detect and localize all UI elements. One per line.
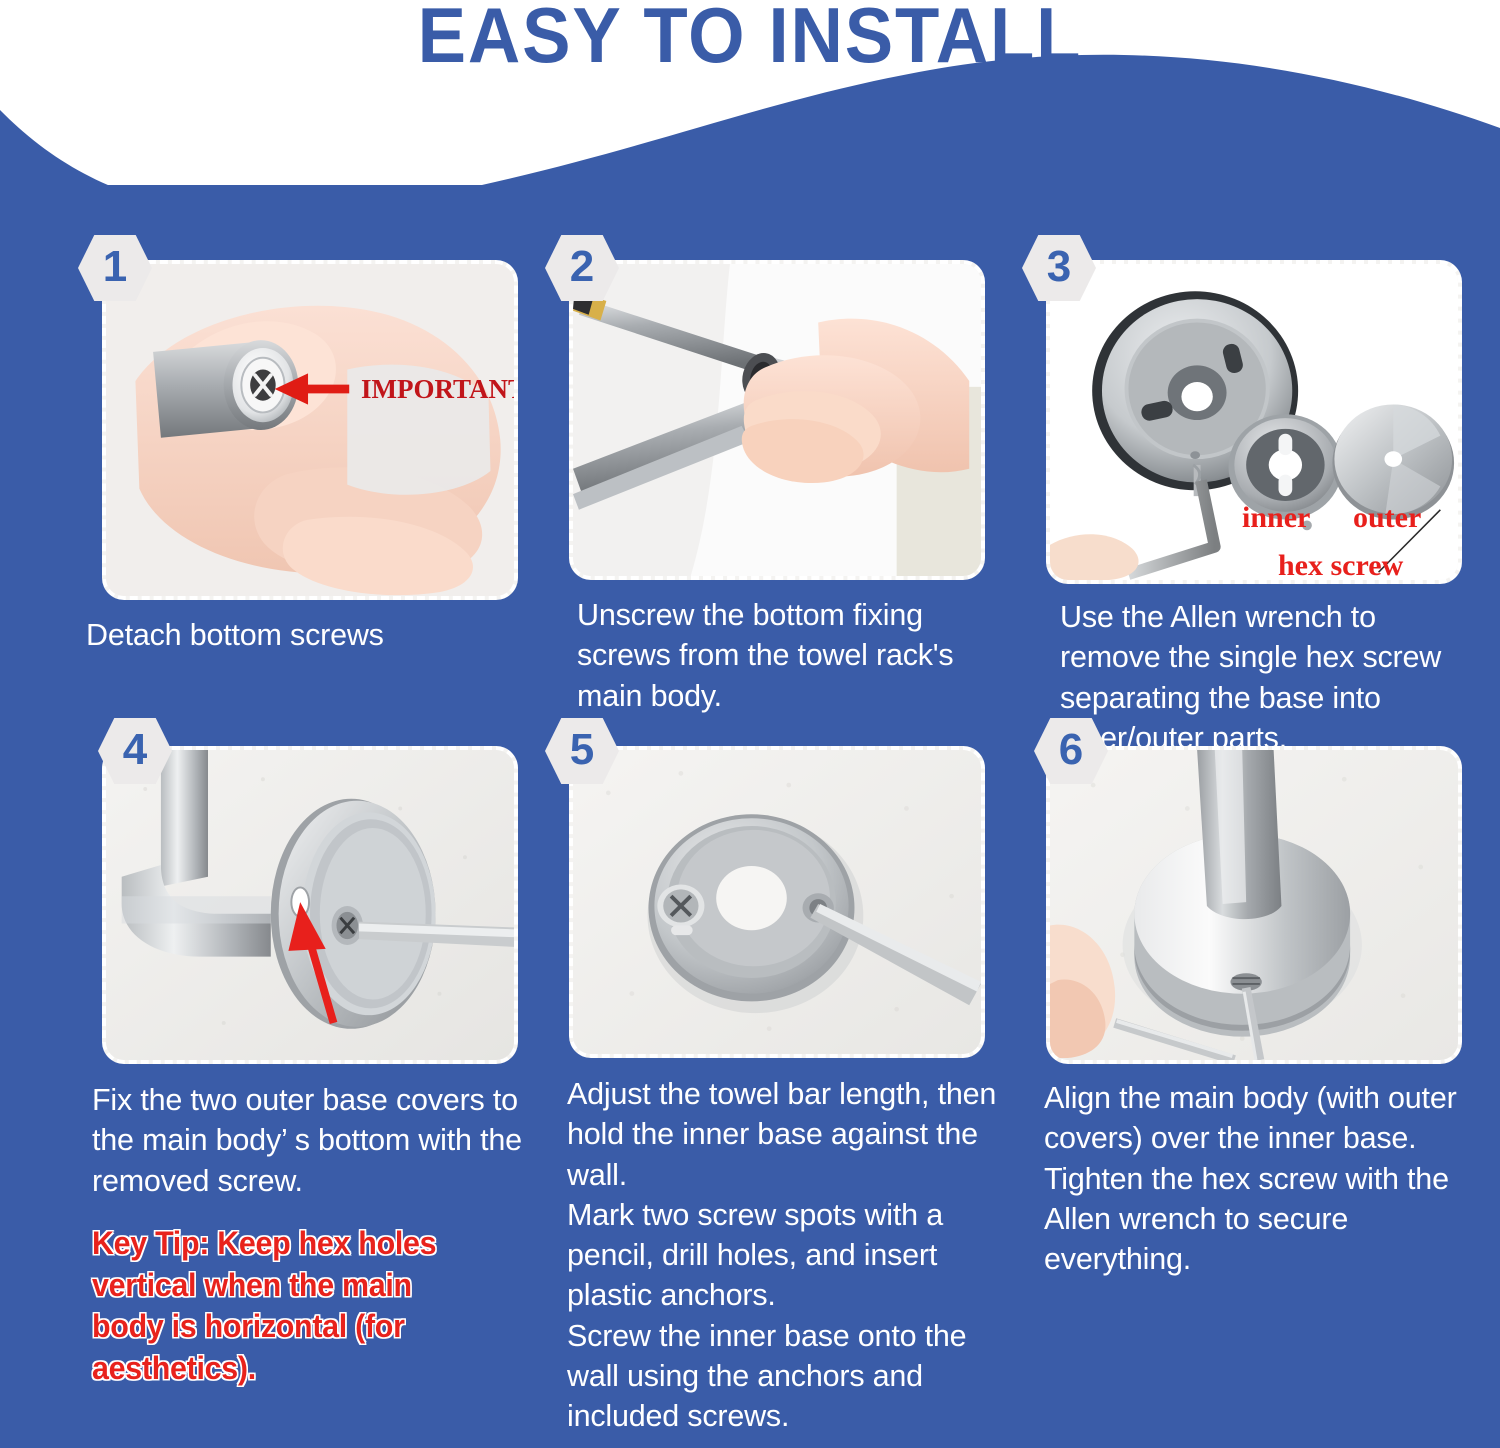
outer-cover-on-main-body-illustration	[106, 750, 514, 1060]
step-photo-5	[569, 746, 985, 1058]
step-4: 4	[78, 718, 528, 1036]
step-3: 3	[1022, 235, 1477, 559]
step-photo-6	[1046, 746, 1462, 1064]
step-photo-1: IMPORTANT	[102, 260, 518, 600]
inner-base-on-wall-illustration	[573, 750, 981, 1054]
step-photo-2	[569, 260, 985, 580]
step-2: 2	[545, 235, 995, 555]
step-6: 6	[1022, 718, 1482, 1036]
screwdriver-unscrewing-rod-illustration	[573, 264, 981, 576]
step-caption-1: Detach bottom screws	[86, 615, 516, 655]
important-label: IMPORTANT	[361, 374, 518, 405]
step-caption-6: Align the main body (with outer covers) …	[1044, 1078, 1484, 1279]
step-caption-5: Adjust the towel bar length, then hold t…	[567, 1074, 999, 1436]
steps-grid: 1	[0, 185, 1500, 1448]
mounted-body-with-wrench-illustration	[1050, 750, 1458, 1060]
outer-label: outer	[1353, 501, 1421, 535]
hex-screw-label: hex screw	[1278, 549, 1403, 583]
header-banner: EASY TO INSTALL	[0, 0, 1500, 185]
step-5: 5	[545, 718, 1005, 1030]
step-caption-2: Unscrew the bottom fixing screws from th…	[577, 595, 977, 716]
step-key-tip-4: Key Tip: Keep hex holes vertical when th…	[92, 1223, 491, 1389]
page-title: EASY TO INSTALL	[53, 0, 1448, 76]
step-photo-3: inner outer hex screw	[1046, 260, 1462, 584]
step-photo-4	[102, 746, 518, 1064]
step-1: 1	[78, 235, 518, 575]
hand-holding-rod-with-screw-illustration	[106, 264, 514, 596]
inner-label: inner	[1242, 501, 1310, 535]
step-caption-4: Fix the two outer base covers to the mai…	[92, 1080, 522, 1201]
